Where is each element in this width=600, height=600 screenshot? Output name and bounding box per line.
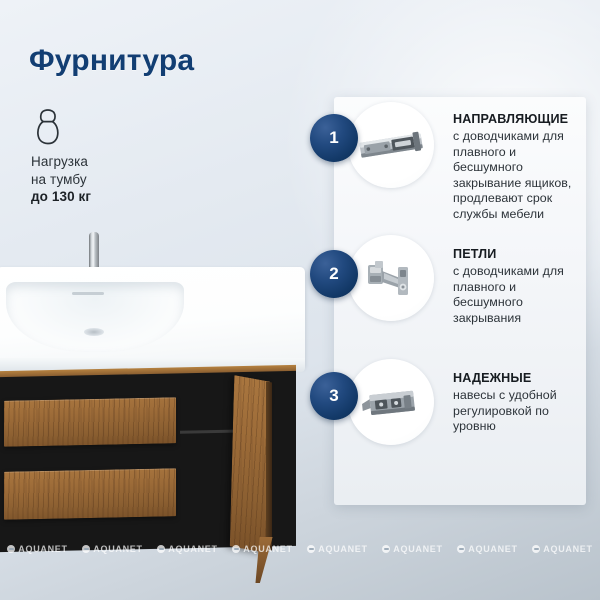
vanity-drawer-bottom [4,468,176,520]
page-title: Фурнитура [29,44,194,78]
drawer-slide-rail-photo [348,102,434,188]
wall-mount-bracket-photo [348,359,434,445]
watermark-item: AQUANET [525,544,600,554]
drain-icon [84,328,104,336]
feature-heading-3: НАДЕЖНЫЕ [453,371,581,386]
watermark-label: AQUANET [543,544,592,554]
watermark-item: AQUANET [375,544,450,554]
watermark-label: AQUANET [393,544,442,554]
feature-heading-2: ПЕТЛИ [453,247,581,262]
vanity-door-open [230,375,270,553]
feature-number-badge-1: 1 [310,114,358,162]
vanity-door-edge [266,382,272,551]
feature-description-2: с доводчиками для плавного и бесшумного … [453,264,581,326]
feature-heading-1: НАПРАВЛЯЮЩИЕ [453,112,581,127]
aquanet-logo-icon [457,545,465,553]
feature-description-1: с доводчиками для плавного и бесшумного … [453,129,581,223]
load-value: до 130 кг [31,188,161,206]
feature-text-1: НАПРАВЛЯЮЩИЕ с доводчиками для плавного … [453,112,581,223]
kettlebell-icon [31,108,65,146]
vanity-drawer-top [4,397,176,447]
feature-number-badge-2: 2 [310,250,358,298]
watermark-label: AQUANET [318,544,367,554]
load-label-line1: Нагрузка [31,153,161,171]
feature-text-2: ПЕТЛИ с доводчиками для плавного и бесшу… [453,247,581,326]
feature-text-3: НАДЕЖНЫЕ навесы с удобной регулировкой п… [453,371,581,435]
watermark-label: AQUANET [468,544,517,554]
watermark-item: AQUANET [450,544,525,554]
cabinet-hinge-photo [348,235,434,321]
feature-number-badge-3: 3 [310,372,358,420]
overflow-slot [72,292,104,295]
load-capacity-block: Нагрузка на тумбу до 130 кг [31,108,161,206]
aquanet-logo-icon [532,545,540,553]
bathroom-vanity-image [0,232,324,562]
feature-description-3: навесы с удобной регулировкой по уровню [453,388,581,435]
features-panel: 1 НАПРАВЛЯЮЩИЕ с доводчиками для плавног… [334,97,586,505]
load-label-line2: на тумбу [31,171,161,189]
aquanet-logo-icon [382,545,390,553]
promo-banner: Фурнитура Нагрузка на тумбу до 130 кг 1 [0,0,600,600]
